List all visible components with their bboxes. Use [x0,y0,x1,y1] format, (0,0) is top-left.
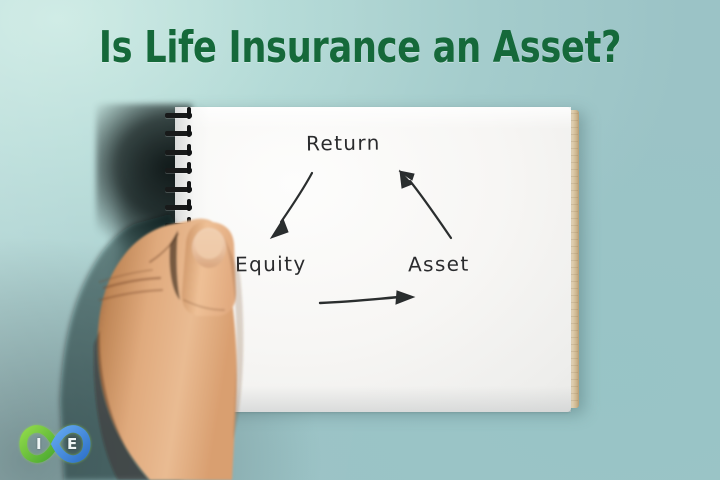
infinity-logo-icon[interactable]: I E [12,418,98,470]
logo-letter-e: E [67,435,77,453]
hand-holding-notebook [0,0,720,480]
logo-letter-i: I [36,435,42,453]
header-image-canvas: Is Life Insurance an Asset? Return Equit… [0,0,720,480]
